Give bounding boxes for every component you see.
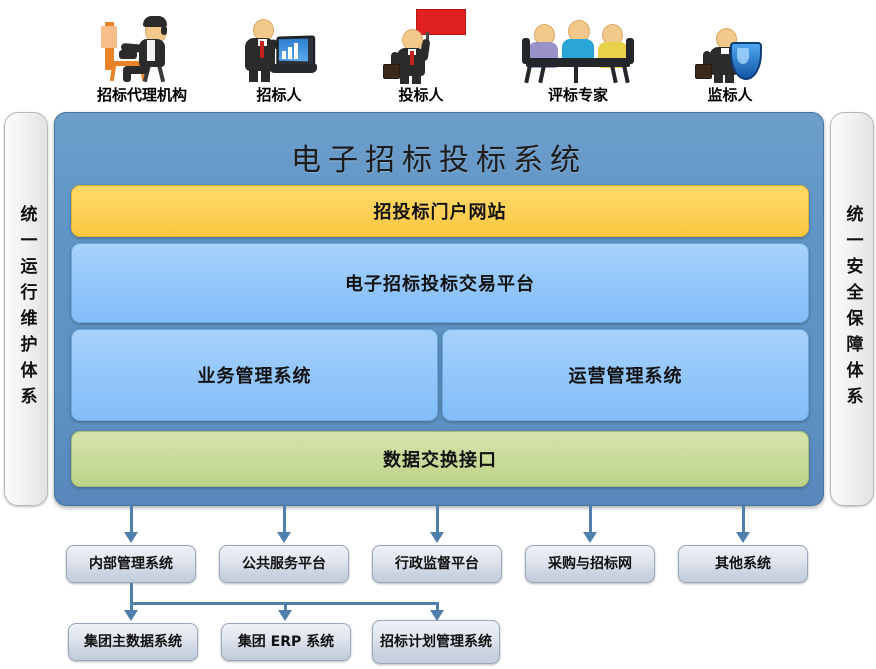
layer-label: 招投标门户网站	[374, 198, 507, 224]
node-label: 招标计划管理系统	[380, 634, 492, 650]
node-public-service-platform[interactable]: 公共服务平台	[219, 545, 349, 583]
node-bid-plan-management-system[interactable]: 招标计划管理系统	[372, 620, 500, 664]
layer-label: 业务管理系统	[198, 362, 312, 388]
actor-tenderer: 招标人	[227, 6, 331, 105]
layer-business-management-system[interactable]: 业务管理系统	[71, 329, 438, 421]
agent-at-desk-icon	[83, 6, 201, 84]
arrow-to-procurement-net	[583, 532, 597, 543]
layer-operations-management-system[interactable]: 运营管理系统	[442, 329, 809, 421]
layer-label: 数据交换接口	[383, 446, 497, 472]
connector-to-internal-mgmt	[130, 504, 133, 534]
layer-label: 运营管理系统	[569, 362, 683, 388]
node-label: 集团主数据系统	[84, 634, 182, 650]
person-with-laptop-icon	[227, 6, 331, 84]
main-system-panel: 电子招标投标系统 招投标门户网站 电子招标投标交易平台 业务管理系统 运营管理系…	[54, 112, 824, 506]
layer-portal-website[interactable]: 招投标门户网站	[71, 185, 809, 237]
arrow-to-internal-mgmt	[124, 532, 138, 543]
experts-at-table-icon	[514, 6, 642, 84]
actor-label: 投标人	[369, 84, 473, 105]
node-label: 公共服务平台	[242, 556, 326, 572]
connector-to-admin-supervision	[436, 504, 439, 534]
connector-to-procurement-net	[589, 504, 592, 534]
sidebar-left-label: 统一运行维护体系	[18, 205, 35, 413]
actor-label: 招标人	[227, 84, 331, 105]
sidebar-left-ops-system: 统一运行维护体系	[4, 112, 48, 506]
actor-agent: 招标代理机构	[83, 6, 201, 105]
layer-label: 电子招标投标交易平台	[345, 270, 535, 296]
node-label: 内部管理系统	[89, 556, 173, 572]
arrow-to-public-service	[277, 532, 291, 543]
actor-label: 招标代理机构	[83, 84, 201, 105]
node-group-erp-system[interactable]: 集团 ERP 系统	[221, 623, 351, 661]
diagram-canvas: 招标代理机构 招标人	[0, 0, 876, 669]
person-raising-sign-icon	[369, 6, 473, 84]
arrow-to-erp	[278, 610, 292, 621]
node-other-systems[interactable]: 其他系统	[678, 545, 808, 583]
node-label: 采购与招标网	[548, 556, 632, 572]
layer-trading-platform[interactable]: 电子招标投标交易平台	[71, 243, 809, 323]
arrow-to-master-data	[124, 610, 138, 621]
actor-experts: 评标专家	[514, 6, 642, 105]
node-label: 行政监督平台	[395, 556, 479, 572]
sidebar-right-security-system: 统一安全保障体系	[830, 112, 874, 506]
actor-label: 监标人	[678, 84, 782, 105]
node-administrative-supervision-platform[interactable]: 行政监督平台	[372, 545, 502, 583]
arrow-to-admin-supervision	[430, 532, 444, 543]
arrow-to-other-systems	[736, 532, 750, 543]
sidebar-right-label: 统一安全保障体系	[844, 205, 861, 413]
person-with-shield-icon	[678, 6, 782, 84]
node-label: 集团 ERP 系统	[238, 634, 334, 650]
node-group-master-data-system[interactable]: 集团主数据系统	[68, 623, 198, 661]
node-procurement-and-bidding-network[interactable]: 采购与招标网	[525, 545, 655, 583]
connector-to-other-systems	[742, 504, 745, 534]
node-internal-management-system[interactable]: 内部管理系统	[66, 545, 196, 583]
actor-bidder: 投标人	[369, 6, 473, 105]
connector-to-public-service	[283, 504, 286, 534]
actor-label: 评标专家	[514, 84, 642, 105]
page-title: 电子招标投标系统	[55, 135, 823, 179]
layer-data-exchange-interface[interactable]: 数据交换接口	[71, 431, 809, 487]
actor-supervisor: 监标人	[678, 6, 782, 105]
node-label: 其他系统	[715, 556, 771, 572]
